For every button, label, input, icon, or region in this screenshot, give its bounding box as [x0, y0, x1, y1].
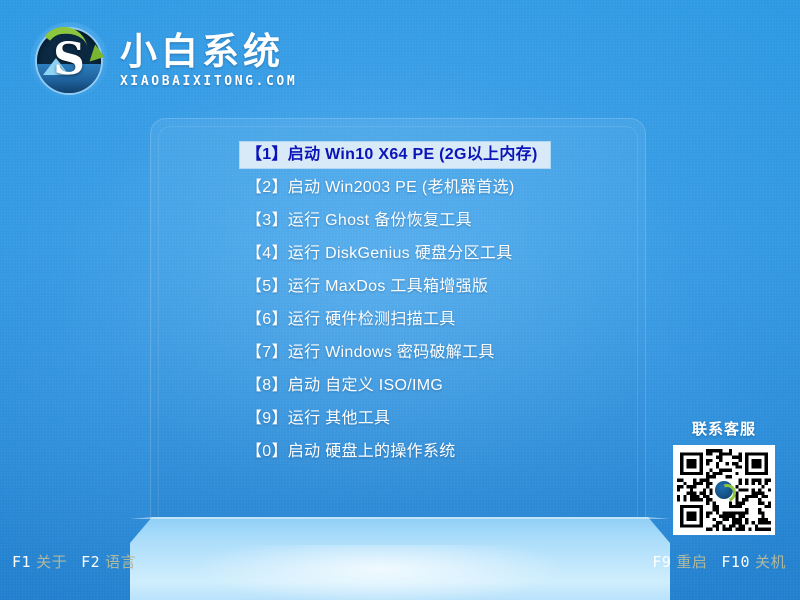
- boot-menu-item-1[interactable]: 【1】启动 Win10 X64 PE (2G以上内存): [240, 142, 550, 168]
- pedestal-top-edge: [130, 517, 670, 519]
- hotkeys-right[interactable]: F9重启F10关机: [652, 551, 786, 572]
- boot-menu-item-8[interactable]: 【8】启动 自定义 ISO/IMG: [240, 373, 550, 399]
- hotkey-f10[interactable]: F10: [721, 553, 750, 571]
- brand-logo: S 小白系统 XIAOBAIXITONG.COM: [30, 22, 297, 100]
- hotkey-f9-label: 重启: [676, 554, 707, 571]
- contact-support: 联系客服: [668, 418, 780, 535]
- qr-code-icon: [673, 445, 775, 535]
- boot-menu-item-3[interactable]: 【3】运行 Ghost 备份恢复工具: [240, 208, 550, 234]
- logo-letter: S: [53, 38, 85, 82]
- boot-menu-item-6[interactable]: 【6】运行 硬件检测扫描工具: [240, 307, 550, 333]
- recycle-arrow-badge-icon: S: [30, 22, 108, 100]
- qr-center-logo-icon: [715, 481, 733, 499]
- hotkey-f1[interactable]: F1: [12, 553, 31, 571]
- hotkey-f9[interactable]: F9: [652, 553, 671, 571]
- boot-menu-item-9[interactable]: 【9】运行 其他工具: [240, 406, 550, 432]
- brand-name-en: XIAOBAIXITONG.COM: [120, 74, 297, 89]
- contact-support-title: 联系客服: [668, 418, 780, 439]
- hotkeys-left[interactable]: F1关于F2语言: [12, 551, 136, 572]
- boot-menu-item-7[interactable]: 【7】运行 Windows 密码破解工具: [240, 340, 550, 366]
- hotkey-f2-label: 语言: [105, 554, 136, 571]
- boot-menu-item-4[interactable]: 【4】运行 DiskGenius 硬盘分区工具: [240, 241, 550, 267]
- hotkey-f1-label: 关于: [36, 554, 67, 571]
- boot-menu-item-5[interactable]: 【5】运行 MaxDos 工具箱增强版: [240, 274, 550, 300]
- boot-menu-screen: S 小白系统 XIAOBAIXITONG.COM 【1】启动 Win10 X64…: [0, 0, 800, 600]
- pedestal-platform: [130, 517, 670, 600]
- boot-menu-item-2[interactable]: 【2】启动 Win2003 PE (老机器首选): [240, 175, 550, 201]
- brand-name-cn: 小白系统: [120, 33, 297, 72]
- brand-text: 小白系统 XIAOBAIXITONG.COM: [120, 33, 297, 90]
- hotkey-f2[interactable]: F2: [81, 553, 100, 571]
- boot-menu-list[interactable]: 【1】启动 Win10 X64 PE (2G以上内存)【2】启动 Win2003…: [240, 142, 550, 472]
- boot-menu-item-0[interactable]: 【0】启动 硬盘上的操作系统: [240, 439, 550, 465]
- hotkey-f10-label: 关机: [755, 554, 786, 571]
